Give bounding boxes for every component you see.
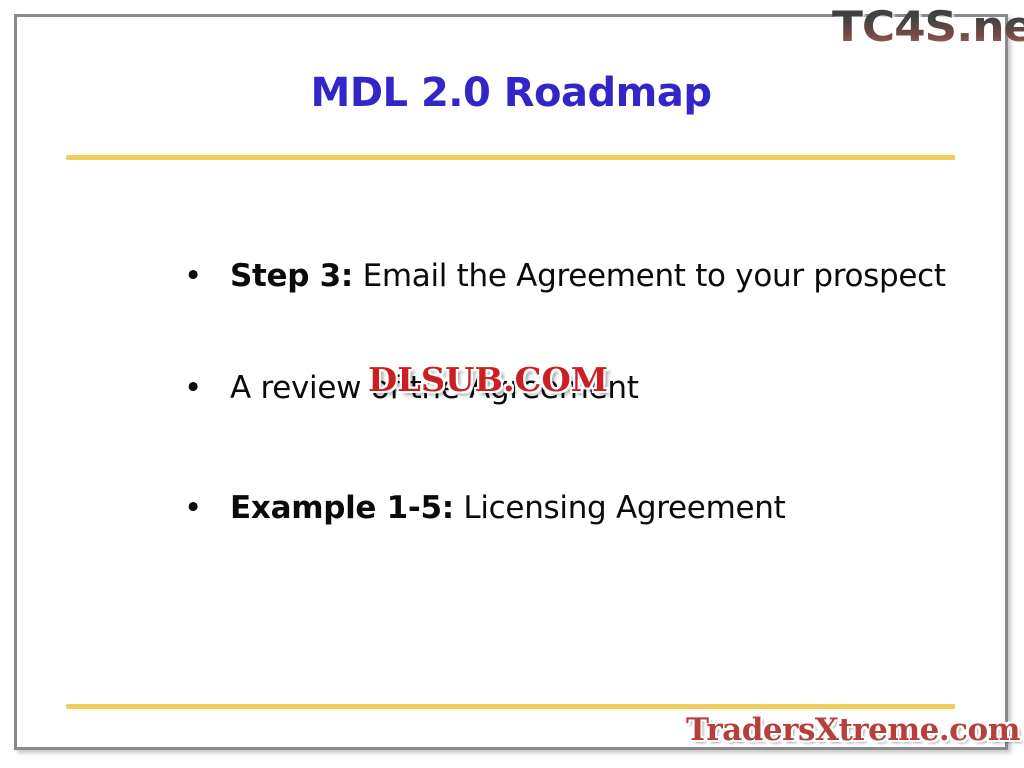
divider-bottom [66,704,955,709]
bullet-marker-icon: • [184,364,198,412]
page-title: MDL 2.0 Roadmap [66,72,956,114]
bullet-marker-icon: • [184,252,198,300]
list-item: •Example 1-5: Licensing Agreement [176,484,966,532]
list-item-lead: Step 3: [230,258,353,294]
list-item-text: Licensing Agreement [454,490,786,526]
list-item-lead: Example 1-5: [230,490,454,526]
tradersxtreme-watermark: TradersXtreme.com [686,712,1020,748]
divider-top [66,155,955,160]
bullet-marker-icon: • [184,484,198,532]
dlsub-watermark: DLSUB.COM [368,360,608,399]
slide-canvas: MDL 2.0 Roadmap •Step 3: Email the Agree… [0,0,1024,768]
list-item: •Step 3: Email the Agreement to your pro… [176,252,966,300]
list-item-text: Email the Agreement to your prospect [353,258,946,294]
tc4s-watermark: TC4S.net [832,2,1024,51]
